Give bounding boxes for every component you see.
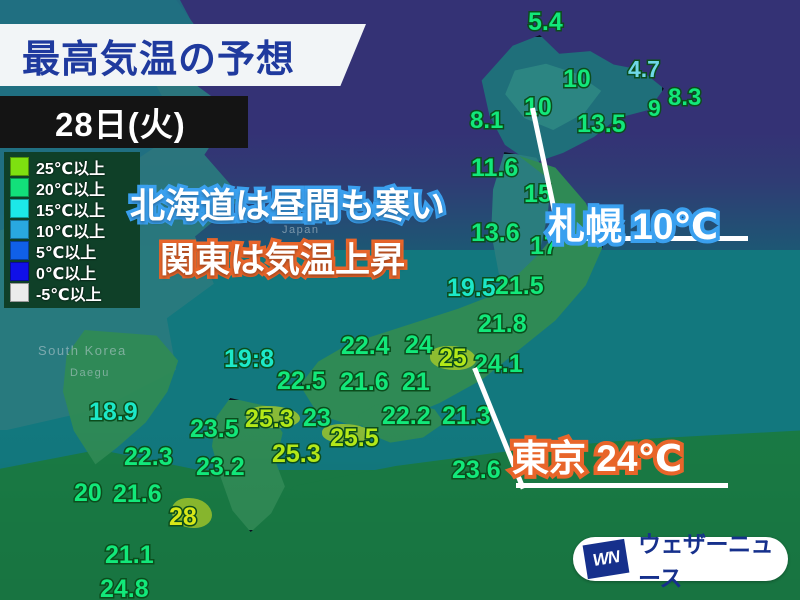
legend-row-6: -5℃以上 [10, 282, 136, 303]
legend-swatch-icon [10, 178, 29, 197]
date-banner: 28日(火) [0, 96, 248, 148]
temperature-reading: 13.5 [577, 110, 626, 139]
temperature-reading: 21.6 [340, 368, 389, 397]
weather-map-screenshot: South Korea Daegu Japan 5.44.71098.3108.… [0, 0, 800, 600]
legend-row-5: 0℃以上 [10, 261, 136, 282]
legend-row-3: 10℃以上 [10, 219, 136, 240]
temperature-reading: 23 [303, 404, 331, 433]
temperature-reading: 25.5 [330, 424, 379, 453]
weathernews-label: ウェザーニュース [638, 525, 788, 593]
headline-kanto: 関東は気温上昇 [160, 232, 405, 283]
temperature-reading: 22.5 [277, 367, 326, 396]
temperature-reading: 24.8 [100, 575, 149, 600]
temperature-reading: 8.1 [470, 107, 503, 135]
callout-sapporo: 札幌 10℃ [548, 196, 718, 250]
temperature-reading: 5.4 [528, 8, 563, 37]
temperature-reading: 8.3 [668, 84, 701, 112]
legend-swatch-icon [10, 262, 29, 281]
temperature-reading: 13.6 [471, 219, 520, 248]
temperature-reading: 4.7 [628, 56, 660, 83]
legend-swatch-icon [10, 157, 29, 176]
temperature-reading: 28 [169, 503, 197, 532]
headline-hokkaido: 北海道は昼間も寒い [130, 178, 445, 229]
temperature-reading: 21.1 [105, 541, 154, 570]
legend-row-0: 25℃以上 [10, 156, 136, 177]
temperature-reading: 18.9 [89, 398, 138, 427]
legend-label: -5℃以上 [36, 281, 102, 305]
temperature-reading: 22.4 [341, 332, 390, 361]
page-title: 最高気温の予想 [22, 28, 295, 83]
legend-row-1: 20℃以上 [10, 177, 136, 198]
temperature-reading: 24.1 [474, 350, 523, 379]
legend-swatch-icon [10, 199, 29, 218]
weathernews-logo[interactable]: WN ウェザーニュース [573, 537, 788, 581]
legend-swatch-icon [10, 220, 29, 239]
temperature-reading: 10 [524, 93, 552, 122]
legend-swatch-icon [10, 241, 29, 260]
page-title-banner: 最高気温の予想 [0, 24, 366, 86]
temperature-reading: 25.3 [245, 405, 294, 434]
wn-logo-text: WN [591, 547, 620, 571]
temperature-reading: 22.3 [124, 443, 173, 472]
temperature-reading: 10 [563, 65, 591, 94]
temperature-reading: 22.2 [382, 402, 431, 431]
temperature-reading: 21 [402, 368, 430, 397]
tokyo-leader-underline [516, 483, 728, 488]
temperature-reading: 19.5 [447, 274, 496, 303]
temperature-reading: 21.5 [495, 272, 544, 301]
temperature-reading: 24 [405, 331, 433, 360]
temperature-reading: 21.6 [113, 480, 162, 509]
wn-logo-icon: WN [583, 539, 630, 579]
temperature-reading: 23.2 [196, 453, 245, 482]
date-label: 28日(火) [55, 98, 186, 146]
temperature-reading: 21.3 [442, 402, 491, 431]
temperature-legend: 25℃以上20℃以上15℃以上10℃以上5℃以上0℃以上-5℃以上 [4, 152, 140, 308]
temperature-reading: 23.6 [452, 456, 501, 485]
callout-tokyo: 東京 24℃ [512, 428, 682, 482]
temperature-reading: 21.8 [478, 310, 527, 339]
legend-swatch-icon [10, 283, 29, 302]
legend-row-2: 15℃以上 [10, 198, 136, 219]
temperature-reading: 20 [74, 479, 102, 508]
legend-row-4: 5℃以上 [10, 240, 136, 261]
temperature-reading: 11.6 [471, 154, 518, 183]
temperature-reading: 25 [439, 344, 467, 373]
temperature-reading: 25.3 [272, 440, 321, 469]
temperature-reading: 19:8 [224, 345, 274, 374]
temperature-reading: 23.5 [190, 415, 239, 444]
temperature-reading: 9 [648, 95, 661, 122]
